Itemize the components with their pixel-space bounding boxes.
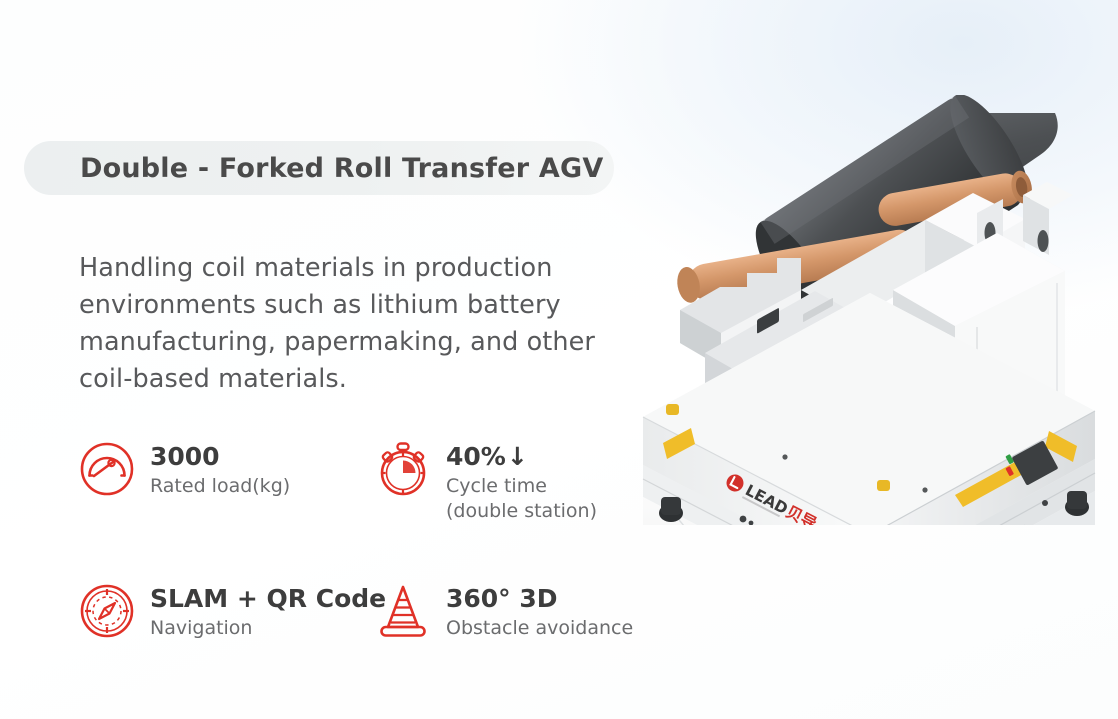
page-title: Double - Forked Roll Transfer AGV: [80, 153, 603, 184]
feature-value-number: 360° 3D: [446, 585, 558, 613]
feature-value-number: 3000: [150, 443, 220, 471]
feature-text: 40% ↓ Cycle time (double station): [446, 438, 597, 524]
feature-value: 360° 3D: [446, 585, 633, 613]
feature-value: 3000: [150, 443, 290, 471]
product-slide: Double - Forked Roll Transfer AGV Handli…: [0, 0, 1118, 719]
feature-label: Rated load(kg): [150, 474, 290, 499]
feature-obstacle-avoidance: 360° 3D Obstacle avoidance: [374, 580, 670, 641]
compass-icon: [78, 582, 136, 640]
feature-label: Navigation: [150, 616, 386, 641]
product-image: LEAD 贝导: [625, 95, 1118, 525]
feature-grid: 3000 Rated load(kg): [78, 438, 678, 641]
feature-row: 3000 Rated load(kg): [78, 438, 678, 524]
feature-value: 40% ↓: [446, 443, 597, 471]
feature-text: SLAM + QR Code Navigation: [150, 580, 386, 641]
feature-value-number: 40%: [446, 443, 506, 471]
feature-text: 3000 Rated load(kg): [150, 438, 290, 499]
product-description: Handling coil materials in production en…: [79, 250, 639, 398]
traffic-cone-icon: [374, 582, 432, 640]
feature-text: 360° 3D Obstacle avoidance: [446, 580, 633, 641]
stopwatch-icon: [374, 440, 432, 498]
feature-row: SLAM + QR Code Navigation: [78, 580, 678, 641]
feature-sublabel: (double station): [446, 499, 597, 524]
feature-value: SLAM + QR Code: [150, 585, 386, 613]
feature-navigation: SLAM + QR Code Navigation: [78, 580, 374, 641]
feature-rated-load: 3000 Rated load(kg): [78, 438, 374, 524]
feature-value-number: SLAM + QR Code: [150, 585, 386, 613]
title-pill: Double - Forked Roll Transfer AGV: [24, 141, 614, 195]
feature-label: Cycle time: [446, 474, 597, 499]
gauge-icon: [78, 440, 136, 498]
feature-label: Obstacle avoidance: [446, 616, 633, 641]
down-arrow-icon: ↓: [507, 443, 528, 471]
